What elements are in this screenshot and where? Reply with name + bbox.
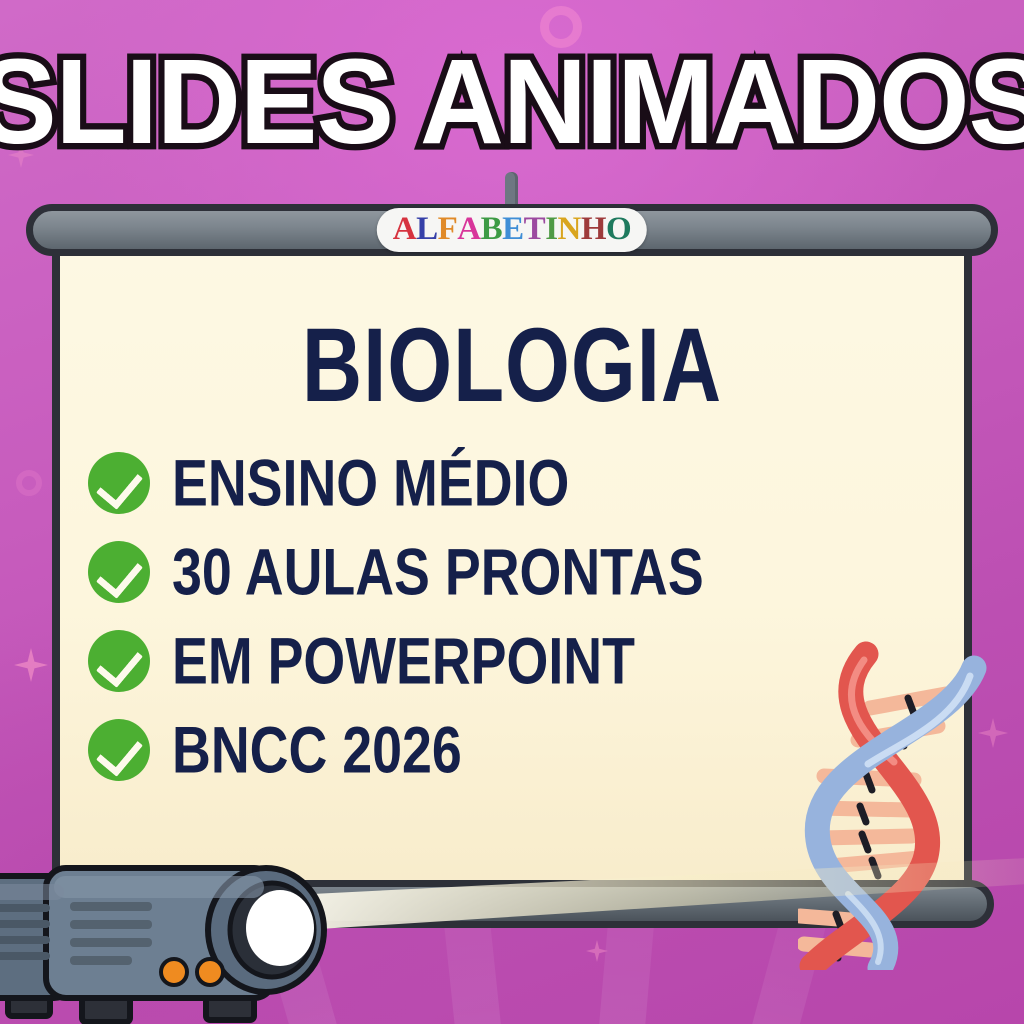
check-circle-icon	[88, 719, 150, 781]
feature-list-item-label: 30 AULAS PRONTAS	[172, 539, 704, 605]
check-circle-icon	[88, 452, 150, 514]
brand-letter-10: O	[606, 213, 631, 246]
feature-list-item: EM POWERPOINT	[88, 630, 726, 692]
decorative-ring	[16, 470, 42, 496]
slide-title: BIOLOGIA	[15, 306, 1008, 427]
feature-list-item-label: ENSINO MÉDIO	[172, 450, 569, 516]
feature-list-item: ENSINO MÉDIO	[88, 452, 726, 514]
brand-letter-0: A	[393, 213, 416, 246]
page-headline: SLIDES ANIMADOS	[0, 34, 1024, 172]
brand-logo-badge: ALFABETINHO	[377, 208, 647, 252]
feature-list-item-label: EM POWERPOINT	[172, 628, 635, 694]
check-circle-icon	[88, 630, 150, 692]
brand-letter-7: I	[545, 213, 557, 246]
check-circle-icon	[88, 541, 150, 603]
brand-letter-4: B	[481, 213, 503, 246]
decorative-sparkle	[14, 648, 48, 682]
projector-illustration	[0, 846, 344, 1024]
feature-list-item: BNCC 2026	[88, 719, 726, 781]
brand-letter-2: F	[438, 213, 458, 246]
brand-letter-5: E	[502, 213, 524, 246]
brand-letter-9: H	[581, 213, 606, 246]
feature-list-item: 30 AULAS PRONTAS	[88, 541, 726, 603]
feature-list: ENSINO MÉDIO30 AULAS PRONTASEM POWERPOIN…	[88, 452, 726, 781]
brand-letter-8: N	[558, 213, 581, 246]
brand-letter-6: T	[524, 213, 546, 246]
brand-letter-1: L	[416, 213, 438, 246]
dna-helix-illustration	[798, 630, 1024, 970]
feature-list-item-label: BNCC 2026	[172, 717, 462, 783]
brand-letter-3: A	[457, 213, 480, 246]
